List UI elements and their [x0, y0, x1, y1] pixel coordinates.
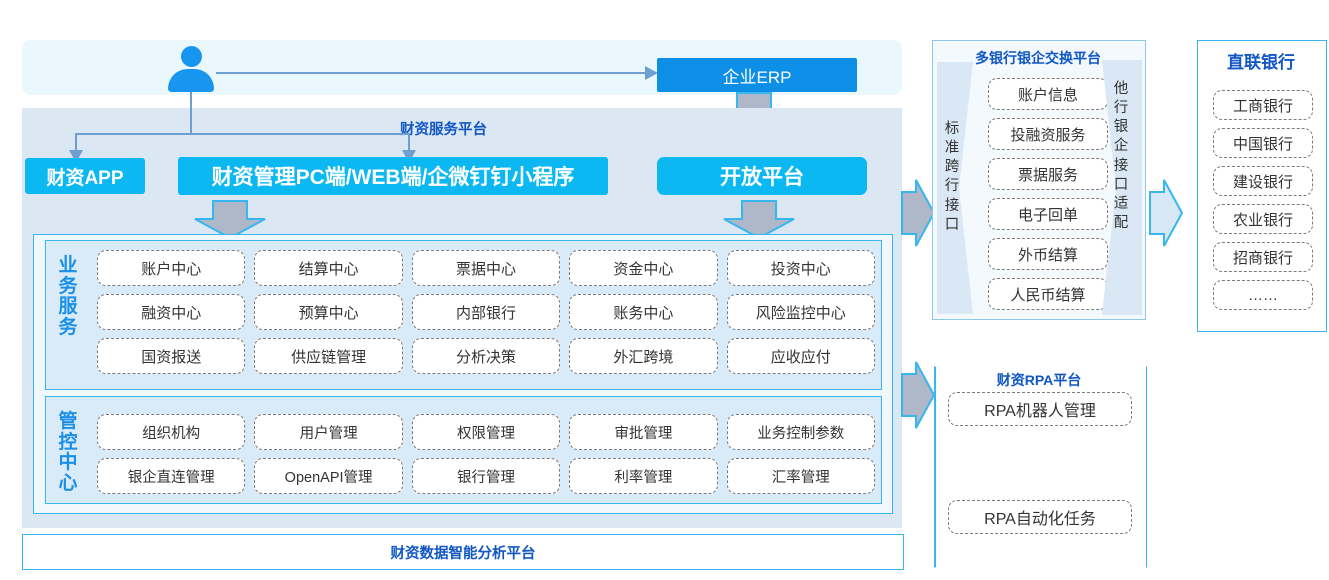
standard-interface-label: 标准跨行接口 [938, 120, 966, 235]
data-analysis-platform-label: 财资数据智能分析平台 [391, 542, 536, 563]
adapter-label: 他行银企接口适配 [1106, 80, 1136, 233]
service-cell[interactable]: 利率管理 [569, 458, 717, 494]
user-to-erp-line [216, 72, 648, 74]
service-cell[interactable]: OpenAPI管理 [254, 458, 402, 494]
person-icon [168, 44, 214, 92]
service-cell[interactable]: 风险监控中心 [727, 294, 875, 330]
service-cell[interactable]: 银行管理 [412, 458, 560, 494]
service-cell[interactable]: 投资中心 [727, 250, 875, 286]
direct-bank-title: 直联银行 [1197, 48, 1325, 73]
service-cell[interactable]: 票据中心 [412, 250, 560, 286]
service-cell[interactable]: 组织机构 [97, 414, 245, 450]
multi-bank-item[interactable]: 账户信息 [988, 78, 1108, 110]
service-cell[interactable]: 应收应付 [727, 338, 875, 374]
service-cell[interactable]: 供应链管理 [254, 338, 402, 374]
service-cell[interactable]: 融资中心 [97, 294, 245, 330]
service-cell[interactable]: 内部银行 [412, 294, 560, 330]
direct-bank-item[interactable]: 中国银行 [1213, 128, 1313, 158]
multi-bank-item[interactable]: 票据服务 [988, 158, 1108, 190]
channel-app-button[interactable]: 财资APP [25, 158, 145, 194]
person-horizontal-line [75, 133, 410, 135]
service-cell[interactable]: 预算中心 [254, 294, 402, 330]
service-cell[interactable]: 账务中心 [569, 294, 717, 330]
direct-bank-item[interactable]: 工商银行 [1213, 90, 1313, 120]
channel-pc-web-label: 财资管理PC端/WEB端/企微钉钉小程序 [212, 161, 575, 191]
service-cell[interactable]: 审批管理 [569, 414, 717, 450]
architecture-diagram: 企业ERP 财资服务平台 财资APP 财资管理PC端/WEB端/企微钉钉小程序 … [0, 0, 1329, 580]
right-arrow-to-multibank-icon [900, 178, 936, 248]
service-cell[interactable]: 账户中心 [97, 250, 245, 286]
direct-bank-item[interactable]: 招商银行 [1213, 242, 1313, 272]
multi-bank-item[interactable]: 人民币结算 [988, 278, 1108, 310]
service-cell[interactable]: 银企直连管理 [97, 458, 245, 494]
multi-bank-item[interactable]: 外币结算 [988, 238, 1108, 270]
service-cell[interactable]: 分析决策 [412, 338, 560, 374]
multi-bank-item[interactable]: 电子回单 [988, 198, 1108, 230]
service-cell[interactable]: 资金中心 [569, 250, 717, 286]
rpa-item[interactable]: RPA自动化任务 [948, 500, 1132, 534]
business-services-label: 业务服务 [55, 256, 81, 338]
right-arrow-to-directbank-icon [1148, 178, 1184, 248]
rpa-item[interactable]: RPA机器人管理 [948, 392, 1132, 426]
right-arrow-to-rpa-icon [900, 360, 936, 430]
service-cell[interactable]: 用户管理 [254, 414, 402, 450]
data-analysis-platform-bar: 财资数据智能分析平台 [22, 534, 904, 570]
service-cell[interactable]: 结算中心 [254, 250, 402, 286]
service-cell[interactable]: 外汇跨境 [569, 338, 717, 374]
service-cell[interactable]: 国资报送 [97, 338, 245, 374]
platform-title: 财资服务平台 [400, 118, 487, 139]
enterprise-erp-box[interactable]: 企业ERP [657, 58, 857, 92]
management-center-label: 管控中心 [55, 412, 81, 494]
service-cell[interactable]: 汇率管理 [727, 458, 875, 494]
enterprise-erp-label: 企业ERP [723, 63, 792, 88]
channel-open-platform-label: 开放平台 [720, 161, 804, 191]
channel-open-platform-button[interactable]: 开放平台 [657, 157, 867, 195]
channel-pc-web-button[interactable]: 财资管理PC端/WEB端/企微钉钉小程序 [178, 157, 608, 195]
multi-bank-item[interactable]: 投融资服务 [988, 118, 1108, 150]
channel-app-label: 财资APP [46, 163, 123, 190]
direct-bank-item[interactable]: …… [1213, 280, 1313, 310]
business-services-grid: 账户中心结算中心票据中心资金中心投资中心融资中心预算中心内部银行账务中心风险监控… [97, 250, 875, 374]
service-cell[interactable]: 权限管理 [412, 414, 560, 450]
direct-bank-item[interactable]: 建设银行 [1213, 166, 1313, 196]
person-vertical-line [190, 92, 192, 135]
management-center-grid: 组织机构用户管理权限管理审批管理业务控制参数银企直连管理OpenAPI管理银行管… [97, 414, 875, 494]
rpa-platform-title: 财资RPA平台 [934, 370, 1144, 390]
service-cell[interactable]: 业务控制参数 [727, 414, 875, 450]
direct-bank-item[interactable]: 农业银行 [1213, 204, 1313, 234]
